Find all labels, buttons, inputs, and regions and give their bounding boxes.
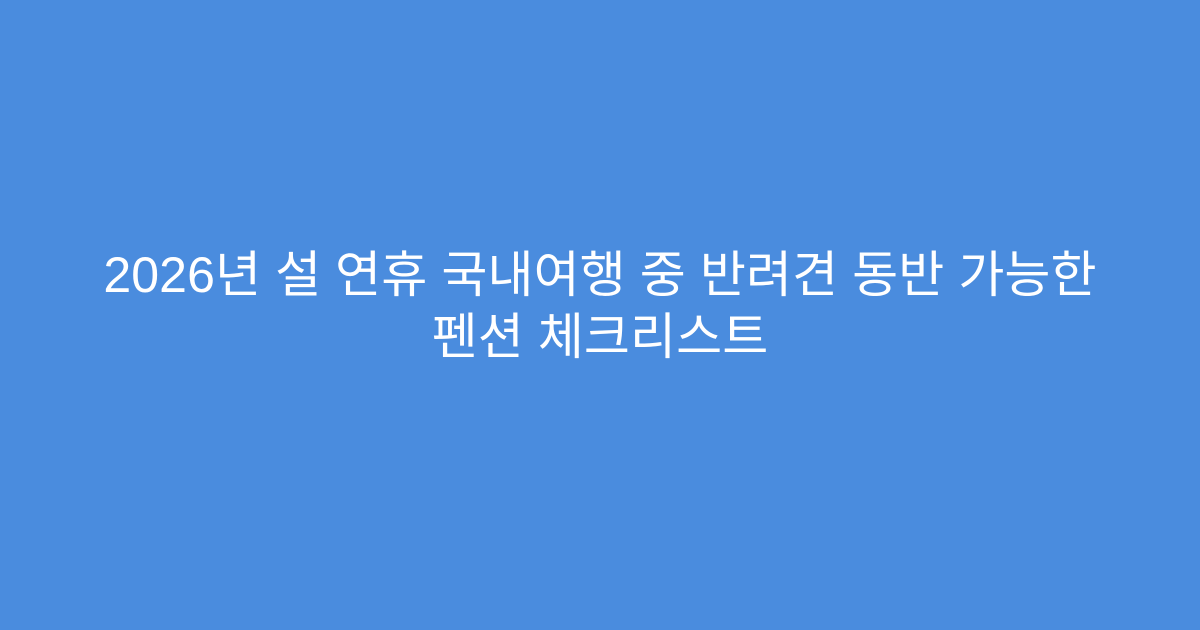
cover-card: 2026년 설 연휴 국내여행 중 반려견 동반 가능한 펜션 체크리스트 (0, 0, 1200, 630)
headline-block: 2026년 설 연휴 국내여행 중 반려견 동반 가능한 펜션 체크리스트 (70, 244, 1130, 368)
page-title: 2026년 설 연휴 국내여행 중 반려견 동반 가능한 펜션 체크리스트 (70, 244, 1130, 368)
